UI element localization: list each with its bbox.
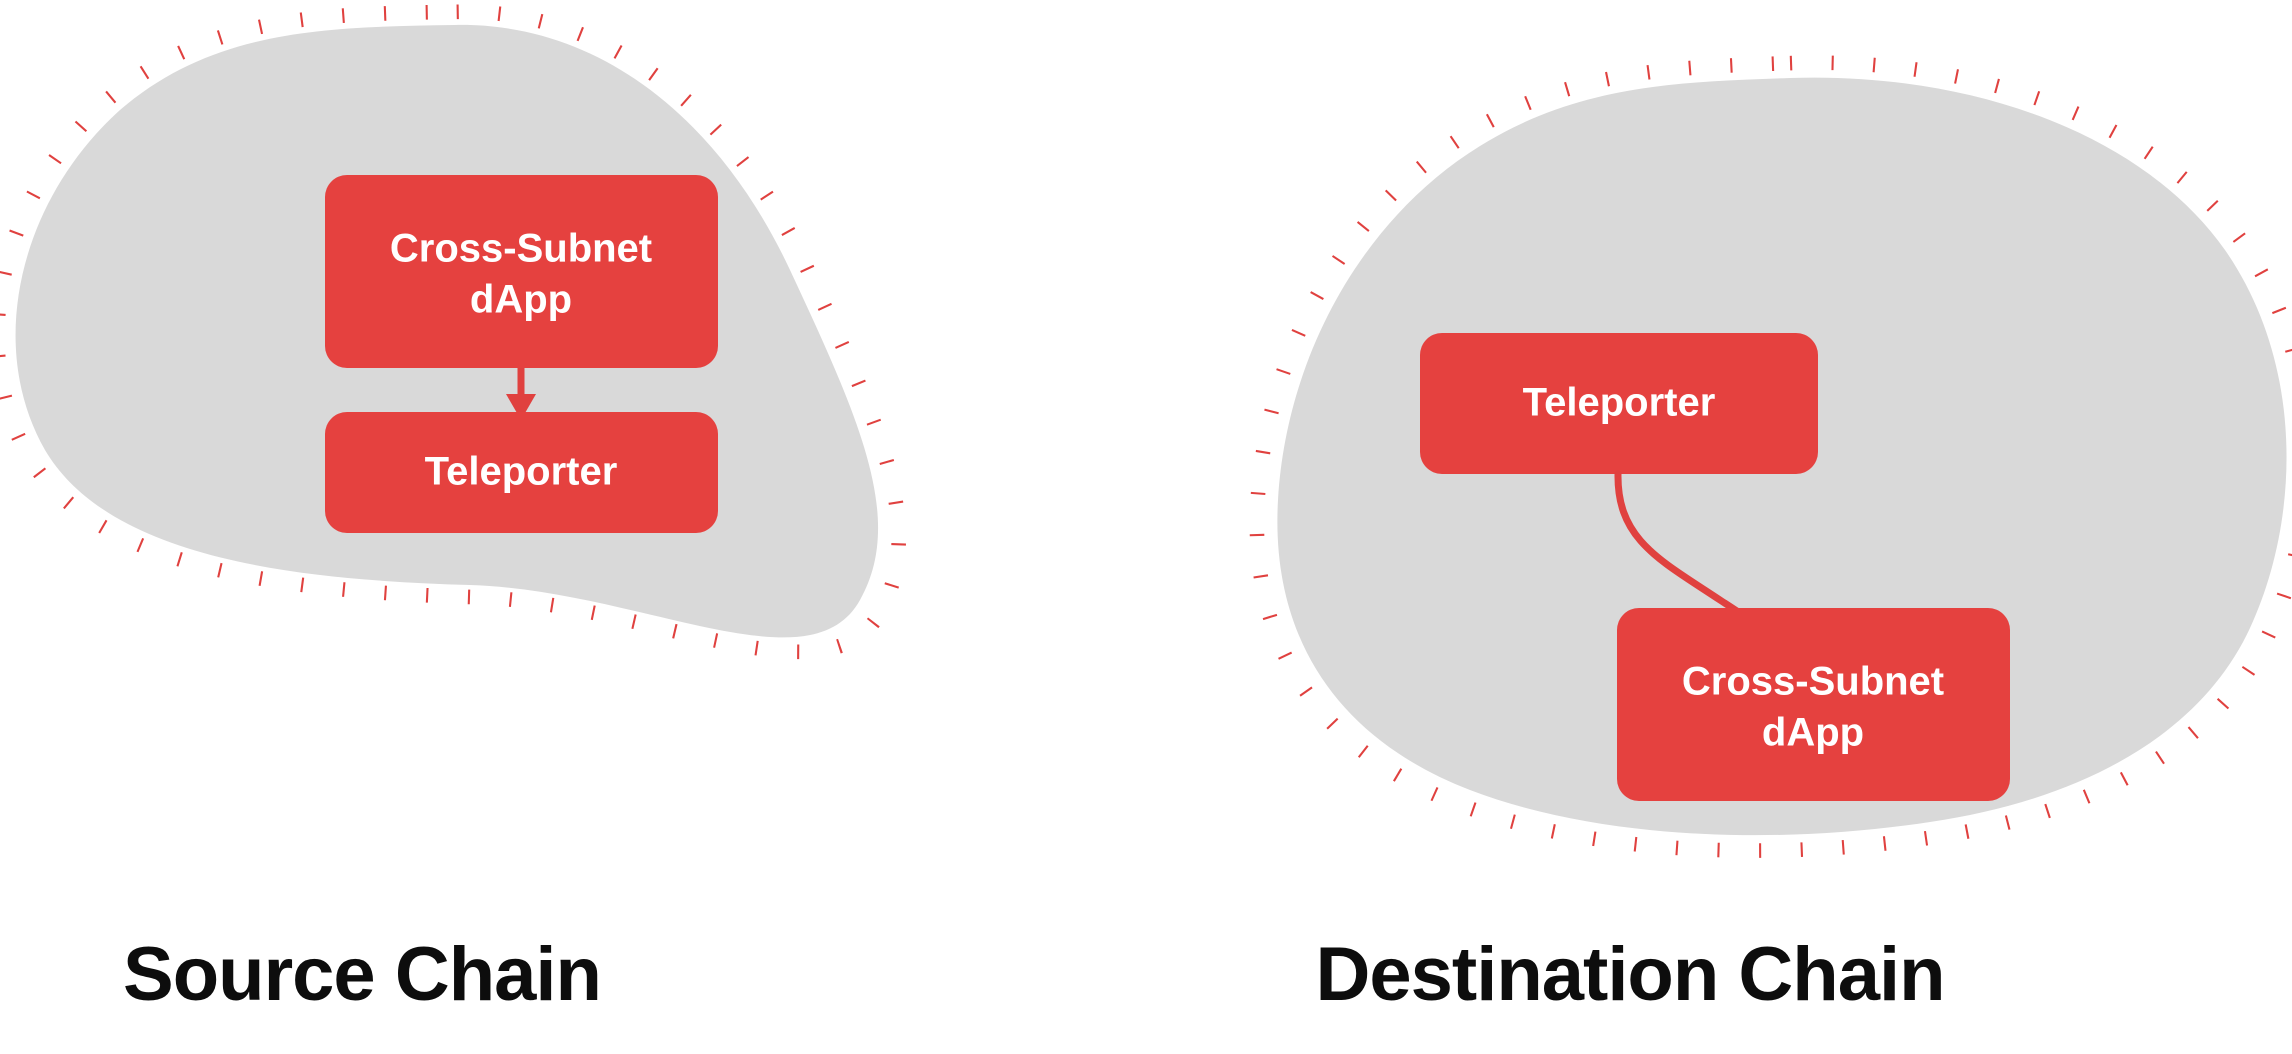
node-source-teleporter-label: Teleporter [425,450,618,494]
destination-chain-title: Destination Chain [1315,932,1944,1017]
node-destination-teleporter[interactable]: Teleporter [1420,333,1818,474]
diagram-svg: Cross-Subnet dApp Teleporter [0,0,2292,1054]
node-source-dapp-label-line2: dApp [470,278,572,322]
node-source-dapp-label-line1: Cross-Subnet [390,227,652,271]
node-dest-teleporter-label: Teleporter [1523,381,1716,425]
node-destination-cross-subnet-dapp[interactable]: Cross-Subnet dApp [1617,608,2010,801]
destination-chain-group: Teleporter Cross-Subnet dApp [1257,63,2292,851]
diagram-canvas: Cross-Subnet dApp Teleporter [0,0,2292,1054]
source-chain-title: Source Chain [123,932,601,1017]
node-dest-dapp-label-line1: Cross-Subnet [1682,660,1944,704]
source-chain-group: Cross-Subnet dApp Teleporter [0,12,899,652]
node-source-dapp-shape [325,175,718,368]
node-source-teleporter[interactable]: Teleporter [325,412,718,533]
node-source-cross-subnet-dapp[interactable]: Cross-Subnet dApp [325,175,718,368]
node-dest-dapp-label-line2: dApp [1762,711,1864,755]
node-dest-dapp-shape [1617,608,2010,801]
